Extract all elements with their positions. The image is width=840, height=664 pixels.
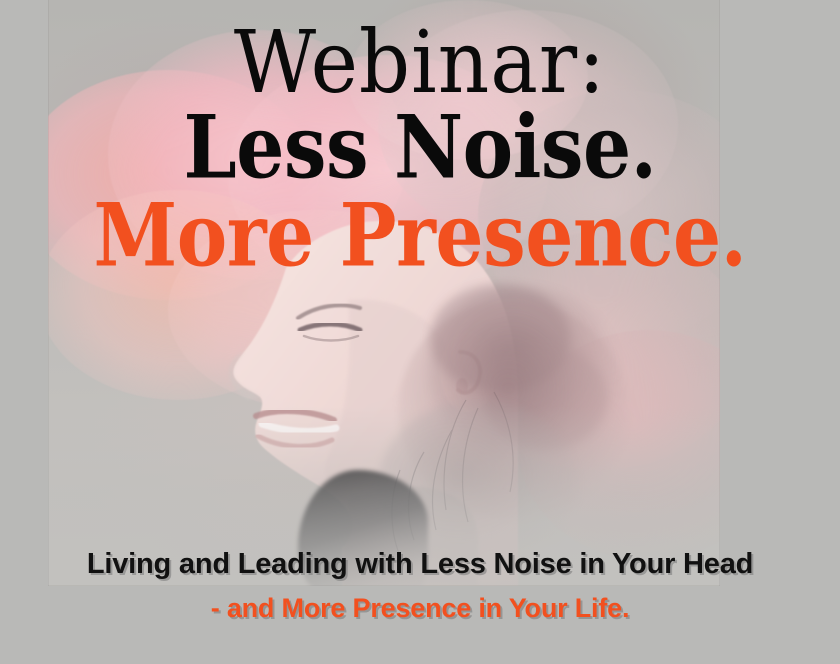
artwork-seam-left	[48, 0, 49, 586]
artwork-seam-right	[719, 0, 720, 586]
bottom-haze-overlay	[48, 406, 720, 586]
poster-canvas: Webinar: Less Noise. More Presence. Livi…	[0, 0, 840, 664]
artwork-panel	[48, 0, 720, 586]
artwork-seam-bottom	[48, 585, 720, 586]
